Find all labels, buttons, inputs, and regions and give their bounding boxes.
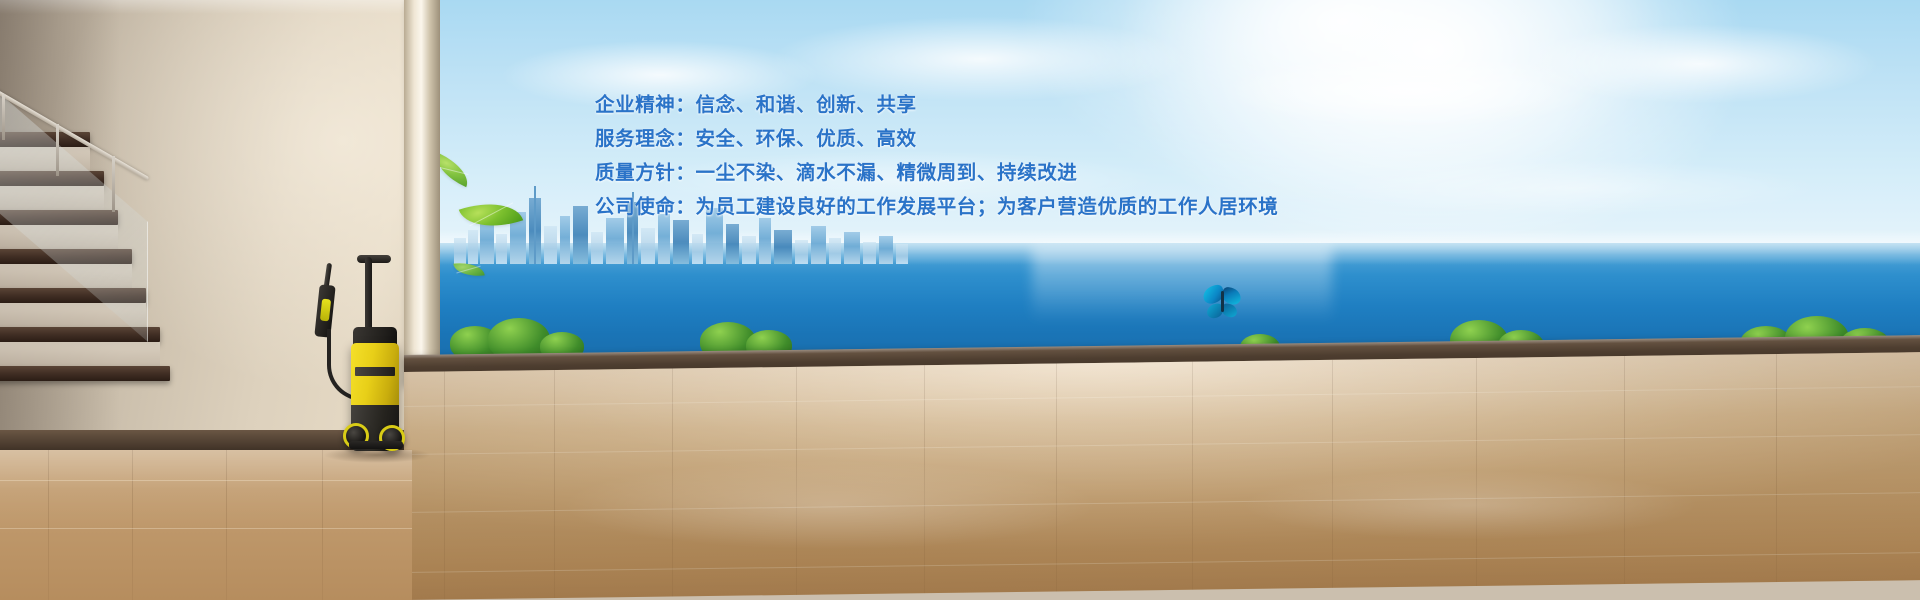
mural-line-corporate-spirit: 企业精神：信念、和谐、创新、共享	[595, 88, 1495, 122]
staircase	[0, 118, 170, 418]
floor-right	[404, 352, 1920, 600]
mural-text-block: 企业精神：信念、和谐、创新、共享 服务理念：安全、环保、优质、高效 质量方针：一…	[595, 88, 1495, 224]
mural-line-quality-policy: 质量方针：一尘不染、滴水不漏、精微周到、持续改进	[595, 156, 1495, 190]
washer-label	[355, 367, 395, 376]
washer-handle-top	[357, 255, 391, 263]
floor-left	[0, 450, 412, 600]
wall-mural: 企业精神：信念、和谐、创新、共享 服务理念：安全、环保、优质、高效 质量方针：一…	[440, 0, 1920, 358]
washer-base	[349, 441, 403, 449]
washer-handle-bar	[365, 257, 372, 331]
butterfly-icon	[1202, 285, 1242, 319]
high-pressure-washer	[305, 255, 425, 460]
mural-line-service-philosophy: 服务理念：安全、环保、优质、高效	[595, 122, 1495, 156]
mural-line-company-mission: 公司使命：为员工建设良好的工作发展平台；为客户营造优质的工作人居环境	[595, 190, 1495, 224]
banner-stage: 企业精神：信念、和谐、创新、共享 服务理念：安全、环保、优质、高效 质量方针：一…	[0, 0, 1920, 600]
